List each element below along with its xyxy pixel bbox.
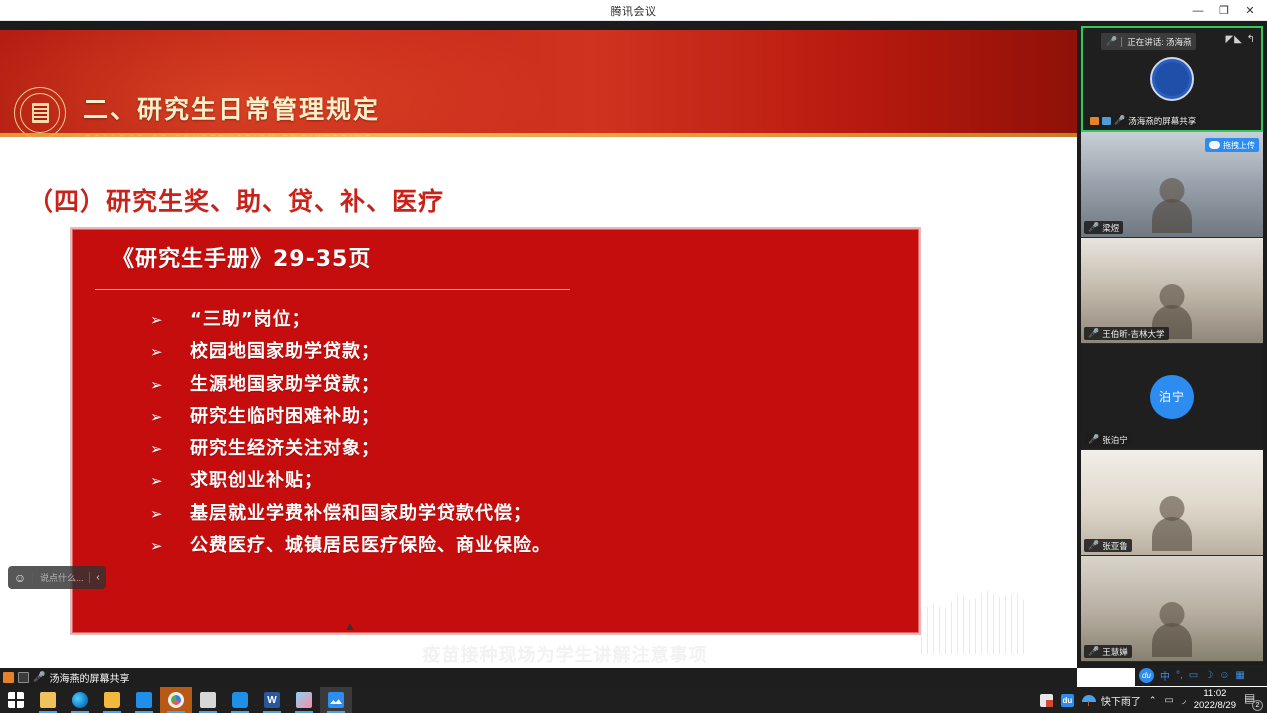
- pdf-tray-icon[interactable]: [1040, 694, 1053, 707]
- participant-rail[interactable]: 🎤 正在讲话: 汤海燕 ◤◣ ↰ 🎤 汤海燕的屏幕共享 拖拽上传: [1077, 21, 1267, 668]
- list-item: ➢ 研究生经济关注对象；: [150, 434, 909, 466]
- list-item: ➢ 校园地国家助学贷款；: [150, 337, 909, 369]
- taskbar-item-word[interactable]: W: [256, 687, 288, 713]
- presentation-slide: 二、研究生日常管理规定 COLLEGE OF CONSTRUCTION ENGI…: [0, 30, 1077, 668]
- taskbar-icons: W: [0, 687, 352, 713]
- participant-name-bar: 🎤 王慧婵: [1084, 645, 1132, 658]
- participant-tile-5[interactable]: 🎤 王慧婵: [1081, 556, 1263, 662]
- mic-muted-icon: 🎤: [1088, 434, 1099, 445]
- list-item-label: 研究生临时困难补助；: [190, 402, 380, 428]
- maximize-button[interactable]: ❐: [1211, 0, 1237, 21]
- speaking-indicator: 🎤 正在讲话: 汤海燕: [1101, 33, 1196, 50]
- list-item: ➢ 求职创业补贴；: [150, 466, 909, 498]
- word-icon: W: [264, 692, 280, 708]
- clock-date: 2022/8/29: [1194, 700, 1236, 711]
- minimize-button[interactable]: —: [1185, 0, 1211, 21]
- arrow-bullet-icon: ➢: [150, 505, 190, 523]
- participant-tile-1[interactable]: 拖拽上传 🎤 梁煜: [1081, 132, 1263, 238]
- list-item: ➢ 生源地国家助学贷款；: [150, 370, 909, 402]
- wifi-icon[interactable]: ◞: [1182, 695, 1186, 706]
- slide-header-title: 二、研究生日常管理规定: [83, 90, 380, 126]
- mic-muted-icon: 🎤: [1088, 540, 1099, 551]
- store-icon: [40, 692, 56, 708]
- ime-mode-toggle[interactable]: 中: [1160, 668, 1170, 683]
- slide-header-subtitle: COLLEGE OF CONSTRUCTION ENGINEERING: [85, 134, 374, 137]
- shared-screen-area[interactable]: 二、研究生日常管理规定 COLLEGE OF CONSTRUCTION ENGI…: [0, 21, 1077, 668]
- weather-widget[interactable]: 快下雨了: [1082, 693, 1141, 708]
- taskbar-item-picture[interactable]: [288, 687, 320, 713]
- cloud-upload-icon: [1209, 141, 1220, 149]
- arrow-bullet-icon: ➢: [150, 537, 190, 555]
- show-hidden-icons-button[interactable]: ⌃: [1149, 695, 1157, 706]
- participant-tile-3[interactable]: 泊宁 🎤 张泊宁: [1081, 344, 1263, 450]
- list-item: ➢ 公费医疗、城镇居民医疗保险、商业保险。: [150, 531, 909, 563]
- emoji-icon[interactable]: ☺: [8, 571, 32, 585]
- participant-name: 张泊宁: [1102, 434, 1128, 446]
- title-divider: [95, 289, 570, 290]
- person-icon: [3, 672, 14, 683]
- participant-tile-4[interactable]: 🎤 张亚鲁: [1081, 450, 1263, 556]
- participant-tile-2[interactable]: 🎤 王伯昕-吉林大学: [1081, 238, 1263, 344]
- arrow-bullet-icon: ➢: [150, 376, 190, 394]
- avatar: 泊宁: [1150, 375, 1194, 419]
- ime-punctuation-toggle[interactable]: °,: [1176, 670, 1183, 681]
- windows-logo-icon: [8, 692, 24, 708]
- mic-muted-icon: 🎤: [1088, 222, 1099, 233]
- participant-name-bar: 🎤 张亚鲁: [1084, 539, 1132, 552]
- building-decoration-icon: [921, 584, 1029, 654]
- screen-icon: [1102, 117, 1111, 125]
- battery-icon[interactable]: ▭: [1164, 695, 1173, 706]
- list-item-label: 基层就业学费补偿和国家助学贷款代偿；: [190, 499, 532, 525]
- app-root: 腾讯会议 — ❐ ✕ 二、研究生日常管理规定 COLLEGE OF CONSTR…: [0, 0, 1267, 713]
- participant-name-bar: 🎤 王伯昕-吉林大学: [1084, 327, 1169, 340]
- start-button[interactable]: [0, 687, 32, 713]
- weather-label: 快下雨了: [1101, 693, 1141, 708]
- arrow-bullet-icon: ➢: [150, 472, 190, 490]
- tile-corner-icons[interactable]: ◤◣ ↰: [1225, 34, 1256, 45]
- folder-icon: [104, 692, 120, 708]
- arrow-bullet-icon: ➢: [150, 408, 190, 426]
- participant-name: 梁煜: [1102, 222, 1119, 234]
- share-icon: [1090, 117, 1099, 125]
- ime-keyboard-icon[interactable]: ▭: [1189, 670, 1198, 681]
- participant-name-bar: 🎤 张泊宁: [1084, 433, 1132, 446]
- participant-name: 王慧婵: [1102, 646, 1128, 658]
- notification-count-badge: 2: [1252, 700, 1263, 711]
- university-logo-icon: [1150, 57, 1194, 101]
- meeting-icon: [328, 692, 344, 708]
- university-emblem-icon: [14, 87, 66, 137]
- list-item: ➢ 研究生临时困难补助；: [150, 402, 909, 434]
- ime-user-icon[interactable]: ☺: [1219, 670, 1229, 681]
- mail-icon: [136, 692, 152, 708]
- slide-header: 二、研究生日常管理规定 COLLEGE OF CONSTRUCTION ENGI…: [0, 30, 1077, 137]
- chevron-left-icon[interactable]: ‹: [89, 572, 106, 583]
- picture-icon: [296, 692, 312, 708]
- content-red-box: 《研究生手册》29-35页 ➢ “三助”岗位； ➢ 校园地国家助学贷款； ➢ 生…: [70, 227, 921, 635]
- taskbar-item-edge[interactable]: [64, 687, 96, 713]
- list-item-label: “三助”岗位；: [190, 305, 311, 331]
- section-title: （四）研究生奖、助、贷、补、医疗: [28, 182, 444, 218]
- taskbar-item-store[interactable]: [32, 687, 64, 713]
- baidu-ime-icon[interactable]: du: [1139, 668, 1154, 683]
- participant-name: 王伯昕-吉林大学: [1102, 328, 1164, 340]
- drag-upload-label: 拖拽上传: [1223, 140, 1255, 151]
- ime-toolbar[interactable]: du 中 °, ▭ ☽ ☺ ▦: [1135, 665, 1267, 686]
- window-titlebar: 腾讯会议 — ❐ ✕: [0, 0, 1267, 21]
- wechat-work-icon: [168, 692, 184, 708]
- participant-name-bar: 🎤 梁煜: [1084, 221, 1123, 234]
- phone-icon: [232, 692, 248, 708]
- screen-share-banner: 🎤 汤海燕的屏幕共享: [0, 668, 1077, 687]
- share-banner-label: 汤海燕的屏幕共享: [49, 670, 129, 685]
- windows-taskbar[interactable]: W du 快下雨了 ⌃ ▭ ◞ 11:02 2022/8/29 ▤ 2: [0, 687, 1267, 713]
- clock-time: 11:02: [1203, 688, 1226, 699]
- clock[interactable]: 11:02 2022/8/29: [1194, 688, 1236, 712]
- taskbar-item-phone[interactable]: [224, 687, 256, 713]
- participant-name-bar: 🎤 汤海燕的屏幕共享: [1086, 114, 1200, 127]
- taskbar-item-explorer[interactable]: [96, 687, 128, 713]
- list-item-label: 研究生经济关注对象；: [190, 434, 380, 460]
- window-controls: — ❐ ✕: [1185, 0, 1263, 21]
- close-button[interactable]: ✕: [1237, 0, 1263, 21]
- monitor-icon: [18, 672, 29, 683]
- taskbar-item-foxmail[interactable]: [128, 687, 160, 713]
- system-tray[interactable]: du 快下雨了 ⌃ ▭ ◞ 11:02 2022/8/29 ▤ 2: [1040, 687, 1267, 713]
- mic-icon: 🎤: [33, 672, 45, 683]
- powerpoint-icon: [200, 692, 216, 708]
- mic-muted-icon: 🎤: [1088, 328, 1099, 339]
- chat-input-bar[interactable]: ☺ 说点什么... ‹: [8, 566, 106, 589]
- umbrella-icon: [1082, 694, 1096, 706]
- bullet-list: ➢ “三助”岗位； ➢ 校园地国家助学贷款； ➢ 生源地国家助学贷款； ➢ 研究…: [150, 305, 909, 563]
- arrow-bullet-icon: ➢: [150, 343, 190, 361]
- participant-name: 汤海燕的屏幕共享: [1128, 115, 1196, 127]
- list-item-label: 生源地国家助学贷款；: [190, 370, 380, 396]
- participant-tile-screenshare[interactable]: 🎤 正在讲话: 汤海燕 ◤◣ ↰ 🎤 汤海燕的屏幕共享: [1081, 26, 1263, 132]
- edge-icon: [72, 692, 88, 708]
- list-item-label: 公费医疗、城镇居民医疗保险、商业保险。: [190, 531, 551, 557]
- taskbar-item-wechat-work[interactable]: [160, 687, 192, 713]
- mic-muted-icon: 🎤: [1106, 36, 1117, 47]
- list-item: ➢ “三助”岗位；: [150, 305, 909, 337]
- window-title: 腾讯会议: [0, 3, 1267, 19]
- chat-input-placeholder[interactable]: 说点什么...: [33, 571, 89, 584]
- participant-name: 张亚鲁: [1102, 540, 1128, 552]
- taskbar-item-ppt[interactable]: [192, 687, 224, 713]
- mic-icon: 🎤: [1114, 115, 1125, 126]
- speaking-label: 正在讲话: 汤海燕: [1127, 36, 1191, 48]
- drag-upload-badge[interactable]: 拖拽上传: [1205, 138, 1259, 152]
- ime-moon-icon[interactable]: ☽: [1204, 670, 1213, 681]
- arrow-bullet-icon: ➢: [150, 440, 190, 458]
- list-item: ➢ 基层就业学费补偿和国家助学贷款代偿；: [150, 499, 909, 531]
- ime-menu-icon[interactable]: ▦: [1235, 670, 1244, 681]
- mouse-cursor-icon: ▲: [344, 619, 352, 631]
- list-item-label: 校园地国家助学贷款；: [190, 337, 380, 363]
- slide-watermark: 疫苗接种现场为学生讲解注意事项: [415, 642, 715, 668]
- baidu-tray-icon[interactable]: du: [1061, 694, 1074, 707]
- list-item-label: 求职创业补贴；: [190, 466, 323, 492]
- arrow-bullet-icon: ➢: [150, 311, 190, 329]
- mic-muted-icon: 🎤: [1088, 646, 1099, 657]
- content-box-title: 《研究生手册》29-35页: [112, 241, 371, 273]
- notification-center-button[interactable]: ▤ 2: [1244, 691, 1261, 709]
- taskbar-item-meeting[interactable]: [320, 687, 352, 713]
